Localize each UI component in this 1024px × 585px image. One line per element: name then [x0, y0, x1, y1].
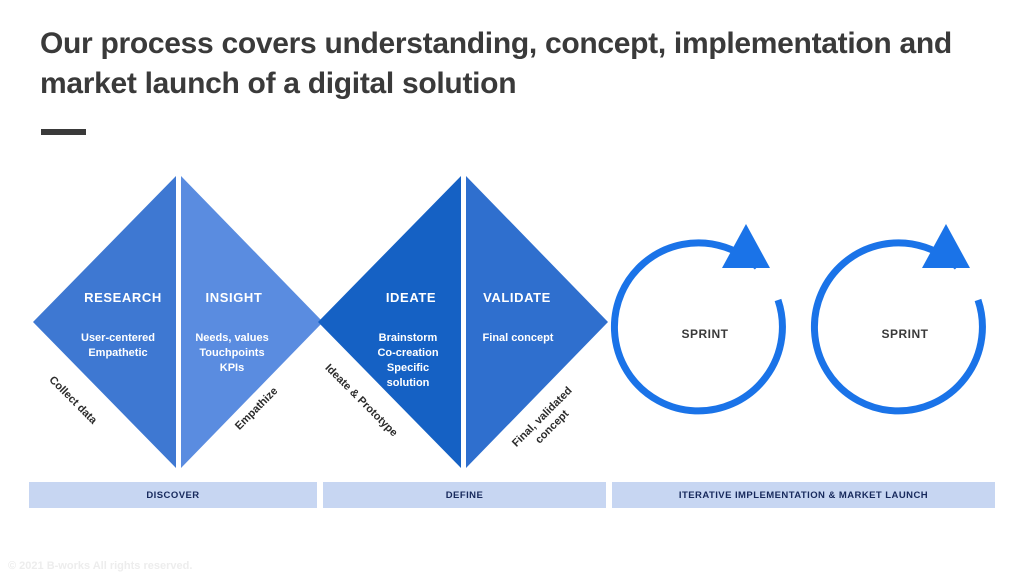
diamond-research-half	[33, 176, 176, 468]
sprint-label-2: SPRINT	[845, 327, 965, 341]
phase-bar-discover: DISCOVER	[29, 482, 317, 508]
copyright-footer: © 2021 B-works All rights reserved.	[8, 560, 192, 572]
phase-bar-label: DEFINE	[446, 490, 484, 501]
phase-bar-label: DISCOVER	[146, 490, 199, 501]
sprint-label-1: SPRINT	[645, 327, 765, 341]
phase-bar-label: ITERATIVE IMPLEMENTATION & MARKET LAUNCH	[679, 490, 928, 501]
phase-bar-define: DEFINE	[323, 482, 606, 508]
phase-bar-iterative-implementation: ITERATIVE IMPLEMENTATION & MARKET LAUNCH	[612, 482, 995, 508]
